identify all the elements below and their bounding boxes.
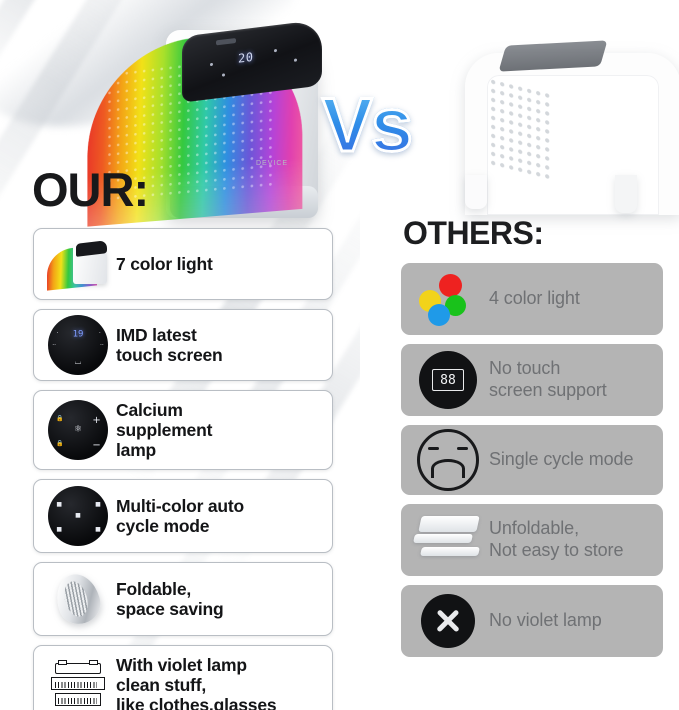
device-logo: DEVICE [256, 160, 288, 167]
feature-label: No violet lamp [489, 610, 602, 632]
vs-badge: Vs [322, 78, 432, 174]
sad-face-icon [407, 425, 489, 495]
list-item[interactable]: 19 ···· ·· ⌴ IMD latest touch screen [33, 309, 333, 381]
panel-brand-mark [216, 38, 236, 45]
four-color-dots-icon [407, 263, 489, 335]
panel-indicator-dot [210, 63, 213, 66]
x-circle-icon [407, 585, 489, 657]
feature-label: 4 color light [489, 288, 580, 310]
vs-label: Vs [322, 78, 432, 174]
list-item[interactable]: 7 color light [33, 228, 333, 300]
feature-label: Foldable, space saving [116, 579, 224, 620]
list-item[interactable]: With violet lamp clean stuff, like cloth… [33, 645, 333, 710]
seven-segment-icon: 88 [407, 344, 489, 416]
panel-display-value: 19 [73, 331, 84, 340]
competitor-led-mesh [491, 79, 553, 182]
feature-label: Multi-color auto cycle mode [116, 496, 244, 537]
segment-display-value: 88 [440, 374, 456, 387]
list-item[interactable]: Unfoldable, Not easy to store [401, 504, 663, 576]
feature-label: Unfoldable, Not easy to store [489, 518, 623, 561]
our-feature-list: 7 color light 19 ···· ·· ⌴ IMD latest to… [33, 228, 333, 710]
panel-indicator-dot [294, 58, 297, 61]
touch-panel-mode-icon: ■■ ■■ ■ [40, 480, 116, 552]
competitor-product-photo [455, 35, 650, 215]
rainbow-device-icon [40, 229, 116, 299]
panel-indicator-dot [274, 49, 277, 52]
folded-device-icon [40, 563, 116, 635]
list-item[interactable]: Foldable, space saving [33, 562, 333, 636]
list-item[interactable]: 🔒🔒 +− ⚛ Calcium supplement lamp [33, 390, 333, 470]
touch-panel-lock-icon: 🔒🔒 +− ⚛ [40, 391, 116, 469]
feature-label: With violet lamp clean stuff, like cloth… [116, 655, 276, 710]
stacked-panels-icon [407, 504, 489, 576]
list-item[interactable]: Single cycle mode [401, 425, 663, 495]
others-feature-list: 4 color light 88 No touch screen support… [401, 263, 663, 666]
violet-lamp-icon [40, 646, 116, 710]
list-item[interactable]: No violet lamp [401, 585, 663, 657]
our-heading: OUR: [32, 162, 148, 217]
panel-indicator-dot [222, 73, 225, 76]
feature-label: Calcium supplement lamp [116, 400, 212, 461]
comparison-infographic: 20 DEVICE Vs OUR: OTHERS: 7 color light [0, 0, 679, 710]
others-heading: OTHERS: [403, 215, 544, 252]
touch-panel-icon: 19 ···· ·· ⌴ [40, 310, 116, 380]
list-item[interactable]: 88 No touch screen support [401, 344, 663, 416]
competitor-leg-left [465, 175, 487, 209]
feature-label: IMD latest touch screen [116, 325, 223, 366]
list-item[interactable]: 4 color light [401, 263, 663, 335]
list-item[interactable]: ■■ ■■ ■ Multi-color auto cycle mode [33, 479, 333, 553]
competitor-leg-right [615, 175, 637, 213]
feature-label: No touch screen support [489, 358, 607, 401]
panel-timer-value: 20 [238, 50, 253, 66]
feature-label: Single cycle mode [489, 449, 633, 471]
feature-label: 7 color light [116, 254, 213, 274]
